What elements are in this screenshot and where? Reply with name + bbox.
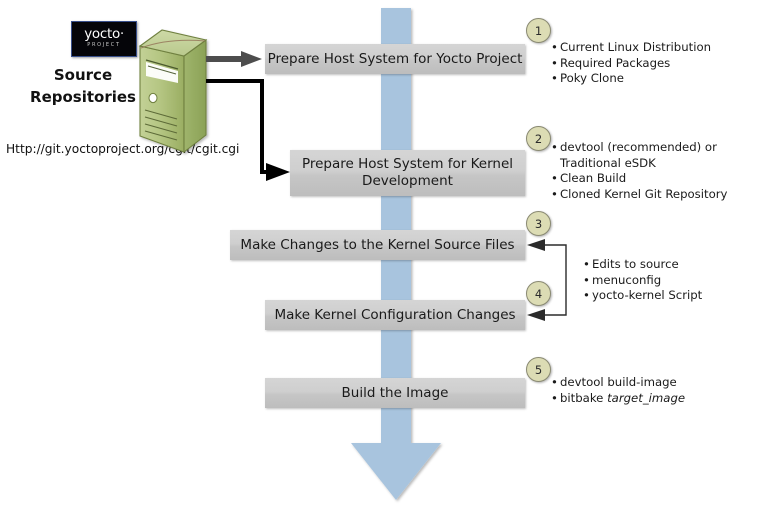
annotation-5-bullet-2-prefix: bitbake xyxy=(560,391,607,405)
annotation-2-bullet-1-text-cont: Traditional eSDK xyxy=(560,156,766,172)
server-tower-icon xyxy=(140,30,206,152)
bullet-dot-icon: • xyxy=(551,71,560,87)
step-circle-5-number: 5 xyxy=(535,363,542,377)
step-circle-1-number: 1 xyxy=(535,24,542,38)
step-circle-3-number: 3 xyxy=(535,217,542,231)
annotation-step-1: • Current Linux Distribution • Required … xyxy=(551,40,763,87)
bullet-dot-icon: • xyxy=(551,40,560,56)
step-box-1[interactable]: Prepare Host System for Yocto Project xyxy=(265,44,525,74)
step-box-2[interactable]: Prepare Host System for Kernel Developme… xyxy=(290,150,525,196)
step-box-2-label-line1: Prepare Host System for Kernel xyxy=(302,156,513,173)
step-box-3-label: Make Changes to the Kernel Source Files xyxy=(240,237,514,254)
annotation-1-bullet-1-text: Current Linux Distribution xyxy=(560,40,763,56)
annotation-34-bullet-3-text: yocto-kernel Script xyxy=(592,288,763,304)
bullet-dot-icon: • xyxy=(583,257,592,273)
yocto-logo-subtext: PROJECT xyxy=(72,42,136,48)
yocto-logo-word-text: yocto xyxy=(84,26,120,42)
bullet-dot-icon: • xyxy=(551,171,560,187)
step-circle-4: 4 xyxy=(526,281,551,306)
step-circle-2-number: 2 xyxy=(535,132,542,146)
yocto-project-logo: yocto· PROJECT xyxy=(71,21,137,57)
bullet-spacer xyxy=(551,156,560,172)
annotation-1-bullet-3-text: Poky Clone xyxy=(560,71,763,87)
annotation-5-bullet-2-italic: target_image xyxy=(607,391,685,405)
annotation-2-bullet-2: • Clean Build xyxy=(551,171,766,187)
step-circle-5: 5 xyxy=(526,357,551,382)
step-box-1-label: Prepare Host System for Yocto Project xyxy=(268,51,523,68)
annotation-1-bullet-2-text: Required Packages xyxy=(560,56,763,72)
annotation-5-bullet-2-text: bitbake target_image xyxy=(560,391,751,407)
step-circle-4-number: 4 xyxy=(535,287,542,301)
step-circle-2: 2 xyxy=(526,126,551,151)
step-box-3[interactable]: Make Changes to the Kernel Source Files xyxy=(230,230,525,260)
step-box-4-label: Make Kernel Configuration Changes xyxy=(274,307,515,324)
annotation-34-bullet-3: • yocto-kernel Script xyxy=(583,288,763,304)
step-box-5-label: Build the Image xyxy=(342,385,449,402)
annotation-1-bullet-1: • Current Linux Distribution xyxy=(551,40,763,56)
annotation-2-bullet-1-text: devtool (recommended) or xyxy=(560,140,766,156)
connector-feedback-loop xyxy=(527,239,566,321)
connector-source-to-step1 xyxy=(206,51,262,67)
step-circle-3: 3 xyxy=(526,211,551,236)
annotation-34-bullet-2: • menuconfig xyxy=(583,273,763,289)
annotation-1-bullet-3: • Poky Clone xyxy=(551,71,763,87)
annotation-step-2: • devtool (recommended) or Traditional e… xyxy=(551,140,766,202)
annotation-34-bullet-1-text: Edits to source xyxy=(592,257,763,273)
annotation-2-bullet-2-text: Clean Build xyxy=(560,171,766,187)
bullet-dot-icon: • xyxy=(583,288,592,304)
annotation-34-bullet-2-text: menuconfig xyxy=(592,273,763,289)
annotation-5-bullet-1: • devtool build-image xyxy=(551,375,751,391)
annotation-2-bullet-1: • devtool (recommended) or xyxy=(551,140,766,156)
annotation-2-bullet-3: • Cloned Kernel Git Repository xyxy=(551,187,766,203)
bullet-dot-icon: • xyxy=(551,140,560,156)
bullet-dot-icon: • xyxy=(551,56,560,72)
bullet-dot-icon: • xyxy=(551,391,560,407)
yocto-logo-wordmark: yocto· xyxy=(72,26,136,42)
annotation-5-bullet-1-text: devtool build-image xyxy=(560,375,751,391)
annotation-steps-3-4-shared: • Edits to source • menuconfig • yocto-k… xyxy=(583,257,763,304)
diagram-canvas: yocto· PROJECT Source Repositories Http:… xyxy=(0,0,769,517)
bullet-dot-icon: • xyxy=(551,375,560,391)
yocto-logo-dot: · xyxy=(120,27,124,42)
annotation-2-bullet-1-cont: Traditional eSDK xyxy=(551,156,766,172)
step-circle-1: 1 xyxy=(526,18,551,43)
annotation-34-bullet-1: • Edits to source xyxy=(583,257,763,273)
bullet-dot-icon: • xyxy=(583,273,592,289)
step-box-2-label-line2: Development xyxy=(362,173,453,190)
step-box-5[interactable]: Build the Image xyxy=(265,378,525,408)
annotation-5-bullet-2: • bitbake target_image xyxy=(551,391,751,407)
annotation-step-5: • devtool build-image • bitbake target_i… xyxy=(551,375,751,406)
connector-source-to-step2 xyxy=(206,81,290,181)
step-box-4[interactable]: Make Kernel Configuration Changes xyxy=(265,300,525,330)
bullet-dot-icon: • xyxy=(551,187,560,203)
annotation-1-bullet-2: • Required Packages xyxy=(551,56,763,72)
annotation-2-bullet-3-text: Cloned Kernel Git Repository xyxy=(560,187,766,203)
